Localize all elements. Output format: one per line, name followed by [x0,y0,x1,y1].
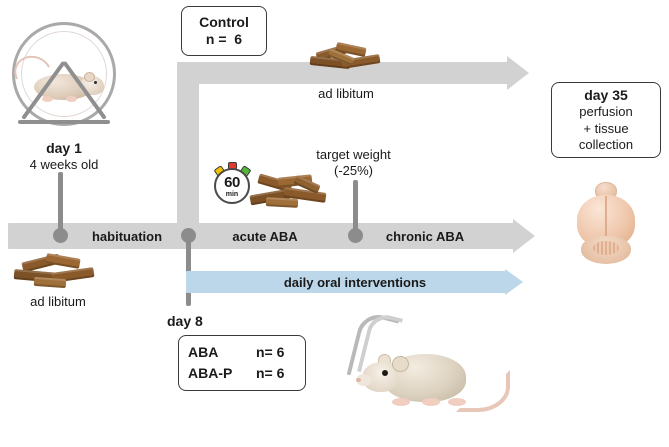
target-weight-line1: target weight [296,147,411,162]
baseline-food-label: ad libitum [8,294,108,309]
endpoint-line2: perfusion [579,104,632,120]
running-wheel-with-mouse-icon [8,22,120,134]
stopwatch-value: 60 [224,175,240,190]
timeline-phase-habituation: habituation [72,229,182,244]
day1-sublabel: 4 weeks old [14,157,114,172]
food-pellets-icon-control [308,42,388,74]
day8-group-box[interactable]: ABA n= 6 ABA-P n= 6 [178,335,306,391]
timeline-phase-acute-aba: acute ABA [210,229,320,244]
control-group-box[interactable]: Control n = 6 [181,6,267,56]
gavage-mouse-icon [348,318,498,428]
food-pellets-icon-restricted [248,174,334,214]
rodent-brain-icon [575,182,637,268]
day8-marker-stem [186,234,191,306]
day8-label: day 8 [167,313,203,330]
day8-row1-n: n= 6 [256,344,296,362]
control-box-line2: n = 6 [206,31,242,49]
stopwatch-unit: min [226,191,238,198]
target-weight-marker-stem [353,180,358,235]
endpoint-line3: + tissue [583,121,628,137]
day8-marker-dot [181,228,196,243]
endpoint-box[interactable]: day 35 perfusion + tissue collection [551,82,661,158]
day8-row2-group: ABA-P [188,365,242,383]
target-weight-marker-dot [348,228,363,243]
control-arrow-label: ad libitum [296,86,396,101]
timeline-phase-chronic-aba: chronic ABA [370,229,480,244]
day1-label: day 1 [14,140,114,157]
day8-row1-group: ABA [188,344,242,362]
control-box-line1: Control [199,14,249,32]
food-pellets-icon-baseline [12,254,104,290]
day1-marker-stem [58,172,63,234]
endpoint-line4: collection [579,137,633,153]
endpoint-line1: day 35 [584,87,628,105]
day1-marker-dot [53,228,68,243]
control-branch-elbow [177,62,199,237]
intervention-arrow-label: daily oral interventions [230,275,480,290]
day8-row2-n: n= 6 [256,365,296,383]
